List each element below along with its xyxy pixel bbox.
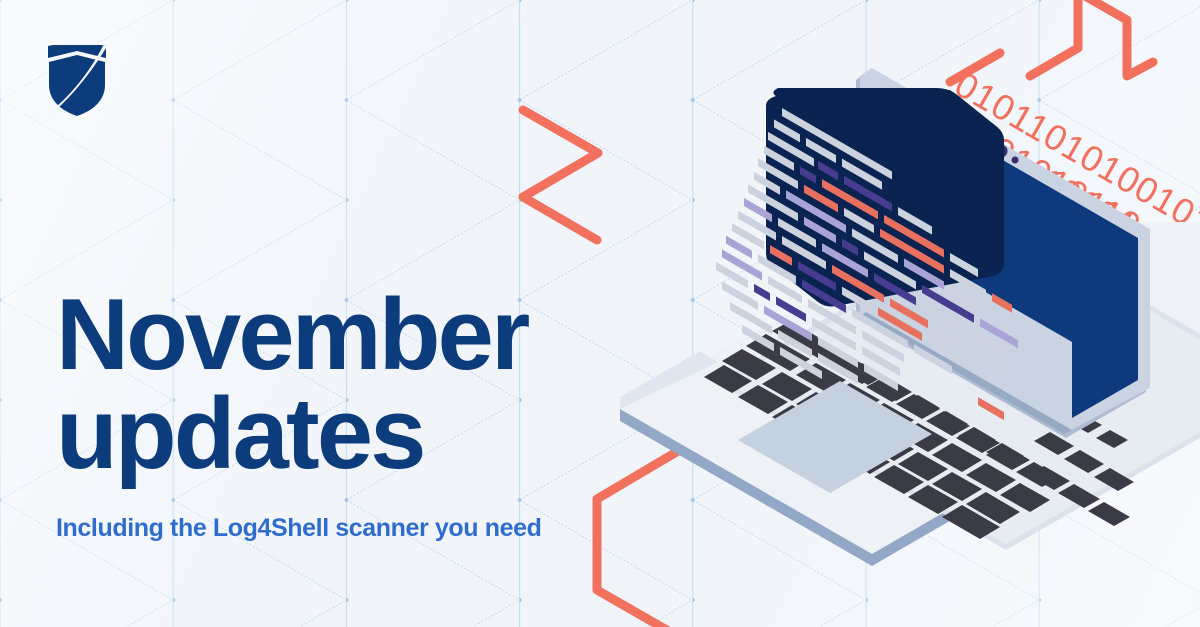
hero-text-block: November updates Including the Log4Shell… bbox=[56, 286, 676, 543]
hero-banner: 01011010100101010110101010101 0101010110… bbox=[0, 0, 1200, 627]
brand-logo[interactable] bbox=[46, 45, 108, 117]
shield-check-icon bbox=[48, 45, 106, 116]
code-bar bbox=[754, 284, 770, 301]
page-title: November updates bbox=[56, 286, 676, 484]
camera-dot-small bbox=[1012, 157, 1019, 164]
page-subtitle: Including the Log4Shell scanner you need bbox=[56, 514, 676, 543]
code-bar bbox=[722, 281, 758, 310]
